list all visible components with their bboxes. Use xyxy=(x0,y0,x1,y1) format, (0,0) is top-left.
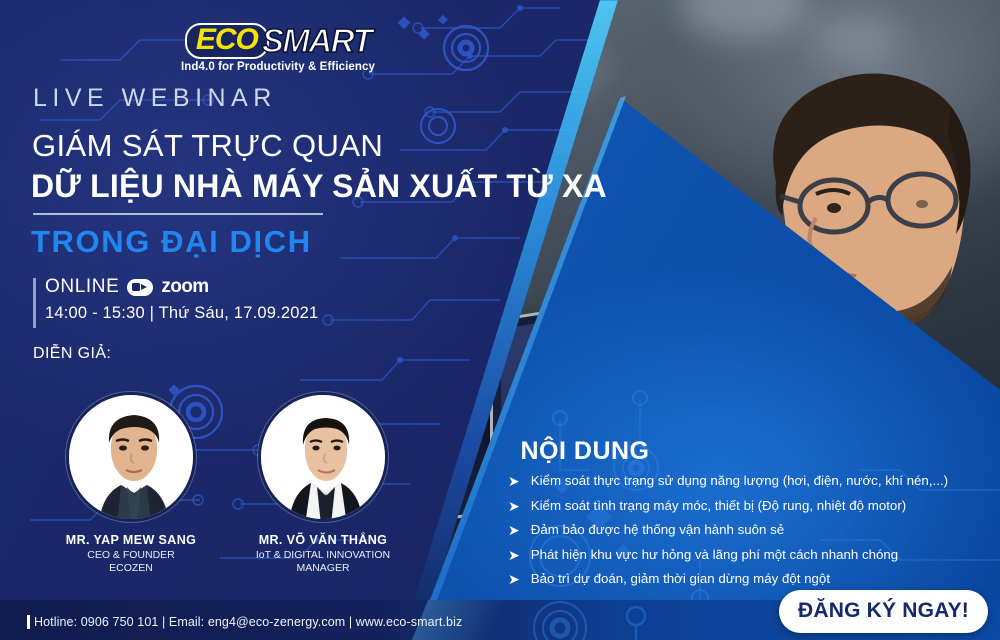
agenda-item: ➤ Bảo trì dự đoán, giảm thời gian dừng m… xyxy=(508,570,988,588)
speaker-role-line2: ECOZEN xyxy=(60,562,202,575)
title-divider xyxy=(33,213,323,215)
chevron-arrow-icon: ➤ xyxy=(508,498,520,515)
speakers-list: MR. YAP MEW SANG CEO & FOUNDER ECOZEN xyxy=(60,392,440,575)
logo-eco-text: ECO xyxy=(185,23,269,59)
agenda-list: ➤ Kiểm soát thực trạng sử dụng năng lượn… xyxy=(508,472,988,595)
title-line-3: TRONG ĐẠI DỊCH xyxy=(31,224,312,260)
agenda-item-text: Kiểm soát thực trạng sử dụng năng lượng … xyxy=(531,472,948,489)
speaker-name: MR. YAP MEW SANG xyxy=(60,533,202,547)
speaker-card: MR. YAP MEW SANG CEO & FOUNDER ECOZEN xyxy=(60,392,202,575)
logo-smart-text: SMART xyxy=(262,22,371,60)
register-button[interactable]: ĐĂNG KÝ NGAY! xyxy=(779,590,988,633)
title-line-1: GIÁM SÁT TRỰC QUAN xyxy=(32,128,383,164)
speaker-role-line2: MANAGER xyxy=(252,562,394,575)
agenda-item: ➤ Kiểm soát tình trạng máy móc, thiết bị… xyxy=(508,497,988,515)
platform-row: ONLINE zoom xyxy=(45,276,209,298)
live-webinar-kicker: LIVE WEBINAR xyxy=(33,84,277,113)
chevron-arrow-icon: ➤ xyxy=(508,522,520,539)
agenda-item: ➤ Phát hiện khu vực hư hỏng và lãng phí … xyxy=(508,546,988,564)
chevron-arrow-icon: ➤ xyxy=(508,571,520,588)
logo-tagline: Ind4.0 for Productivity & Efficiency xyxy=(178,61,378,73)
agenda-item: ➤ Đảm bảo được hệ thống vận hành suôn sẻ xyxy=(508,521,988,539)
speaker-name: MR. VÕ VĂN THẮNG xyxy=(252,533,394,547)
footer-accent-bar xyxy=(27,615,30,629)
zoom-wordmark: zoom xyxy=(161,276,208,298)
agenda-item: ➤ Kiểm soát thực trạng sử dụng năng lượn… xyxy=(508,472,988,490)
title-line-2: DỮ LIỆU NHÀ MÁY SẢN XUẤT TỪ XA xyxy=(31,168,607,205)
speaker-role-line1: IoT & DIGITAL INNOVATION xyxy=(252,549,394,562)
event-schedule: 14:00 - 15:30 | Thứ Sáu, 17.09.2021 xyxy=(45,304,318,323)
agenda-heading: NỘI DUNG xyxy=(0,437,1000,466)
agenda-item-text: Kiểm soát tình trạng máy móc, thiết bị (… xyxy=(531,497,906,514)
video-camera-icon xyxy=(127,279,153,296)
footer-contact: Hotline: 0906 750 101 | Email: eng4@eco-… xyxy=(34,615,462,629)
logo: ECO SMART Ind4.0 for Productivity & Effi… xyxy=(178,22,378,73)
speaker-role-line1: CEO & FOUNDER xyxy=(60,549,202,562)
chevron-arrow-icon: ➤ xyxy=(508,547,520,564)
event-accent-bar xyxy=(33,278,36,328)
webinar-poster: Last 30 days Updated 10 Min ago Retentio… xyxy=(0,0,1000,640)
agenda-item-text: Bảo trì dự đoán, giảm thời gian dừng máy… xyxy=(531,570,830,587)
speaker-card: MR. VÕ VĂN THẮNG IoT & DIGITAL INNOVATIO… xyxy=(252,392,394,575)
speakers-label: DIỄN GIẢ: xyxy=(33,345,111,363)
chevron-arrow-icon: ➤ xyxy=(508,473,520,490)
agenda-item-text: Phát hiện khu vực hư hỏng và lãng phí mộ… xyxy=(531,546,898,563)
online-label: ONLINE xyxy=(45,276,119,298)
agenda-item-text: Đảm bảo được hệ thống vận hành suôn sẻ xyxy=(531,521,784,538)
